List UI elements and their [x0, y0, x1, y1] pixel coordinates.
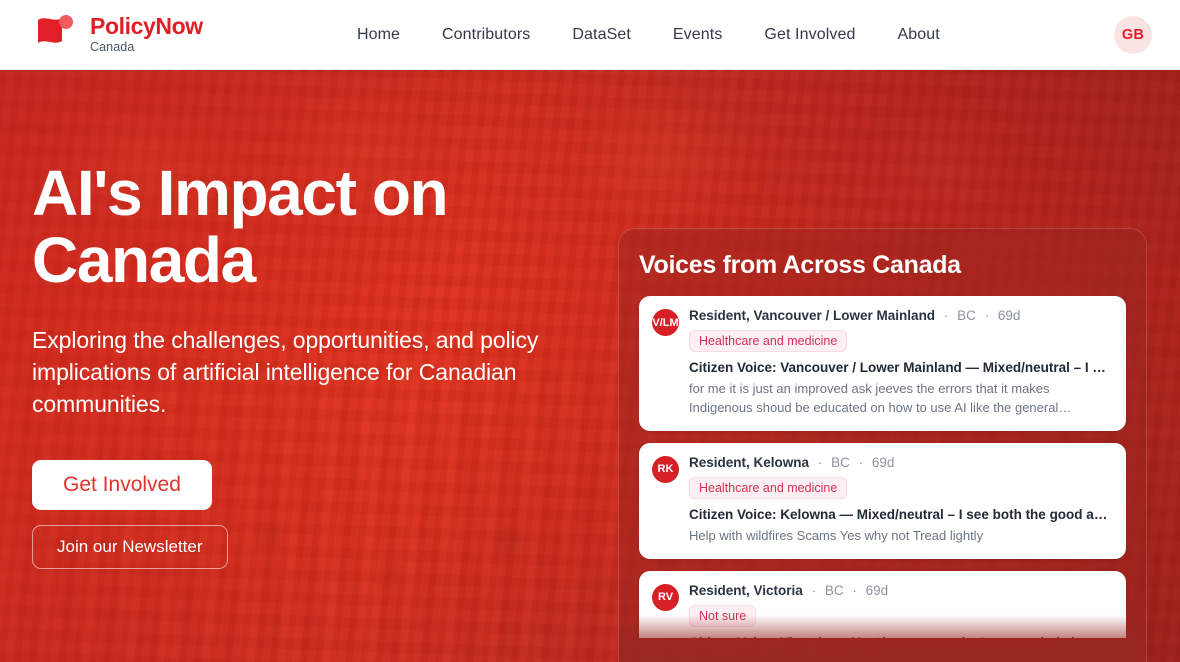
- hero-heading: AI's Impact on Canada: [32, 160, 502, 293]
- voice-tag[interactable]: Healthcare and medicine: [689, 330, 847, 352]
- voice-author: Resident, Vancouver / Lower Mainland: [689, 308, 935, 323]
- voice-title: Citizen Voice: Vancouver / Lower Mainlan…: [689, 360, 1112, 375]
- meta-separator: ·: [852, 583, 857, 598]
- voice-age: 69d: [872, 455, 895, 470]
- hero-subheading: Exploring the challenges, opportunities,…: [32, 325, 552, 420]
- hero-section: AI's Impact on Canada Exploring the chal…: [0, 70, 1180, 662]
- voice-province: BC: [957, 308, 976, 323]
- user-avatar[interactable]: GB: [1114, 16, 1152, 54]
- nav-item-dataset[interactable]: DataSet: [572, 26, 631, 44]
- nav-item-about[interactable]: About: [897, 26, 939, 44]
- voice-age: 69d: [998, 308, 1021, 323]
- voice-excerpt: for me it is just an improved ask jeeves…: [689, 380, 1112, 418]
- voice-card[interactable]: RK Resident, Kelowna · BC · 69d Healthca…: [639, 443, 1126, 559]
- flag-book-icon: [32, 14, 78, 56]
- voice-author: Resident, Kelowna: [689, 455, 809, 470]
- join-newsletter-button[interactable]: Join our Newsletter: [32, 525, 228, 569]
- voice-tag[interactable]: Healthcare and medicine: [689, 477, 847, 499]
- brand-logo[interactable]: PolicyNow Canada: [32, 14, 203, 56]
- voices-count-footer: 1,011 Canadians have shared their though…: [619, 615, 1146, 662]
- meta-separator: ·: [985, 308, 990, 323]
- voices-panel-title: Voices from Across Canada: [619, 229, 1146, 296]
- voice-province: BC: [825, 583, 844, 598]
- main-nav: Home Contributors DataSet Events Get Inv…: [183, 26, 1114, 44]
- voice-excerpt: Help with wildfires Scams Yes why not Tr…: [689, 527, 1112, 546]
- meta-separator: ·: [812, 583, 817, 598]
- voices-panel: Voices from Across Canada V/LM Resident,…: [618, 228, 1147, 662]
- voice-meta: Resident, Kelowna · BC · 69d: [689, 455, 1112, 470]
- nav-item-get-involved[interactable]: Get Involved: [764, 26, 855, 44]
- voices-list[interactable]: V/LM Resident, Vancouver / Lower Mainlan…: [619, 296, 1146, 638]
- get-involved-button[interactable]: Get Involved: [32, 460, 212, 510]
- nav-item-contributors[interactable]: Contributors: [442, 26, 530, 44]
- meta-separator: ·: [944, 308, 949, 323]
- voice-avatar: RK: [652, 456, 679, 483]
- meta-separator: ·: [818, 455, 823, 470]
- voice-avatar: RV: [652, 584, 679, 611]
- hero-actions: Get Involved Join our Newsletter: [32, 460, 632, 569]
- voice-meta: Resident, Victoria · BC · 69d: [689, 583, 1112, 598]
- meta-separator: ·: [859, 455, 864, 470]
- voice-meta: Resident, Vancouver / Lower Mainland · B…: [689, 308, 1112, 323]
- voice-title: Citizen Voice: Kelowna — Mixed/neutral –…: [689, 507, 1112, 522]
- voice-card[interactable]: V/LM Resident, Vancouver / Lower Mainlan…: [639, 296, 1126, 431]
- nav-item-home[interactable]: Home: [357, 26, 400, 44]
- nav-item-events[interactable]: Events: [673, 26, 723, 44]
- hero-content: AI's Impact on Canada Exploring the chal…: [32, 70, 632, 569]
- site-header: PolicyNow Canada Home Contributors DataS…: [0, 0, 1180, 70]
- voice-author: Resident, Victoria: [689, 583, 803, 598]
- voice-age: 69d: [866, 583, 889, 598]
- voice-avatar: V/LM: [652, 309, 679, 336]
- voice-province: BC: [831, 455, 850, 470]
